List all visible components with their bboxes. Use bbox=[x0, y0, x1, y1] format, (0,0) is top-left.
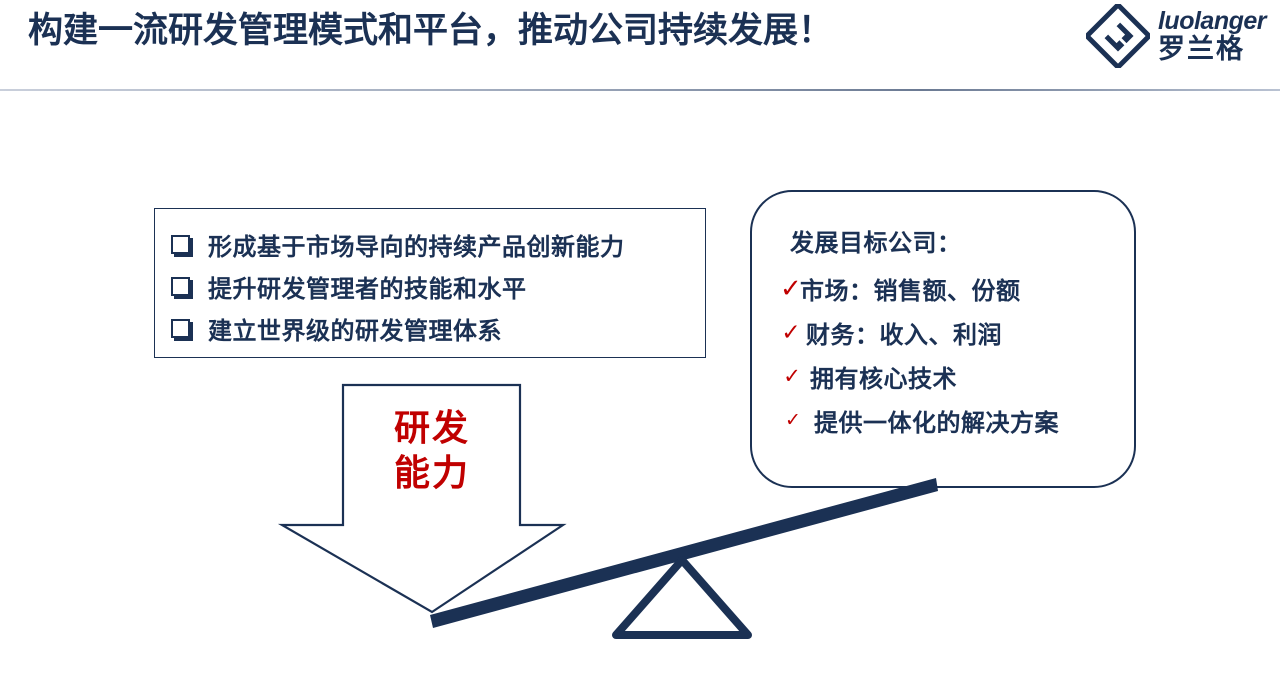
red-check-icon: ✓ bbox=[780, 366, 804, 387]
list-item-label: 形成基于市场导向的持续产品创新能力 bbox=[208, 227, 625, 262]
red-check-icon: ✓ bbox=[780, 275, 800, 301]
list-item-label: 拥有核心技术 bbox=[810, 359, 957, 394]
list-item: 建立世界级的研发管理体系 bbox=[155, 307, 705, 349]
list-item-label: 提升研发管理者的技能和水平 bbox=[208, 269, 527, 304]
list-item: ✓ 市场：销售额、份额 bbox=[780, 266, 1134, 310]
diamond-g-logo-icon bbox=[1086, 4, 1150, 68]
list-item: ✓ 提供一体化的解决方案 bbox=[780, 398, 1134, 442]
list-item: 提升研发管理者的技能和水平 bbox=[155, 265, 705, 307]
seesaw-beam-icon bbox=[430, 478, 938, 628]
page-title: 构建一流研发管理模式和平台，推动公司持续发展！ bbox=[28, 10, 833, 52]
list-item: ✓ 拥有核心技术 bbox=[780, 354, 1134, 398]
logo-latin-name: luolanger bbox=[1158, 9, 1266, 34]
target-callout-box: 发展目标公司： ✓ 市场：销售额、份额 ✓ 财务：收入、利润 ✓ 拥有核心技术 … bbox=[750, 190, 1136, 488]
list-item: 形成基于市场导向的持续产品创新能力 bbox=[155, 223, 705, 265]
callout-heading: 发展目标公司： bbox=[790, 223, 1134, 258]
list-item-label: 建立世界级的研发管理体系 bbox=[208, 311, 502, 346]
logo-wordmark: luolanger 罗兰格 bbox=[1158, 9, 1266, 63]
hollow-square-bullet-icon bbox=[171, 235, 190, 254]
list-item: ✓ 财务：收入、利润 bbox=[780, 310, 1134, 354]
goals-box: 形成基于市场导向的持续产品创新能力 提升研发管理者的技能和水平 建立世界级的研发… bbox=[154, 208, 706, 358]
lever-diagram bbox=[400, 460, 980, 660]
header-divider bbox=[0, 89, 1280, 91]
list-item-label: 提供一体化的解决方案 bbox=[814, 403, 1059, 438]
hollow-square-bullet-icon bbox=[171, 277, 190, 296]
red-check-icon: ✓ bbox=[780, 321, 802, 344]
logo-chinese-name: 罗兰格 bbox=[1158, 36, 1266, 63]
list-item-label: 市场：销售额、份额 bbox=[800, 271, 1021, 306]
red-check-icon: ✓ bbox=[780, 411, 806, 430]
slide-canvas: 构建一流研发管理模式和平台，推动公司持续发展！ luolanger 罗兰格 形成… bbox=[0, 0, 1280, 676]
hollow-square-bullet-icon bbox=[171, 319, 190, 338]
list-item-label: 财务：收入、利润 bbox=[806, 315, 1002, 350]
brand-logo: luolanger 罗兰格 bbox=[1086, 4, 1266, 68]
arrow-label-line1: 研发 bbox=[343, 405, 521, 450]
